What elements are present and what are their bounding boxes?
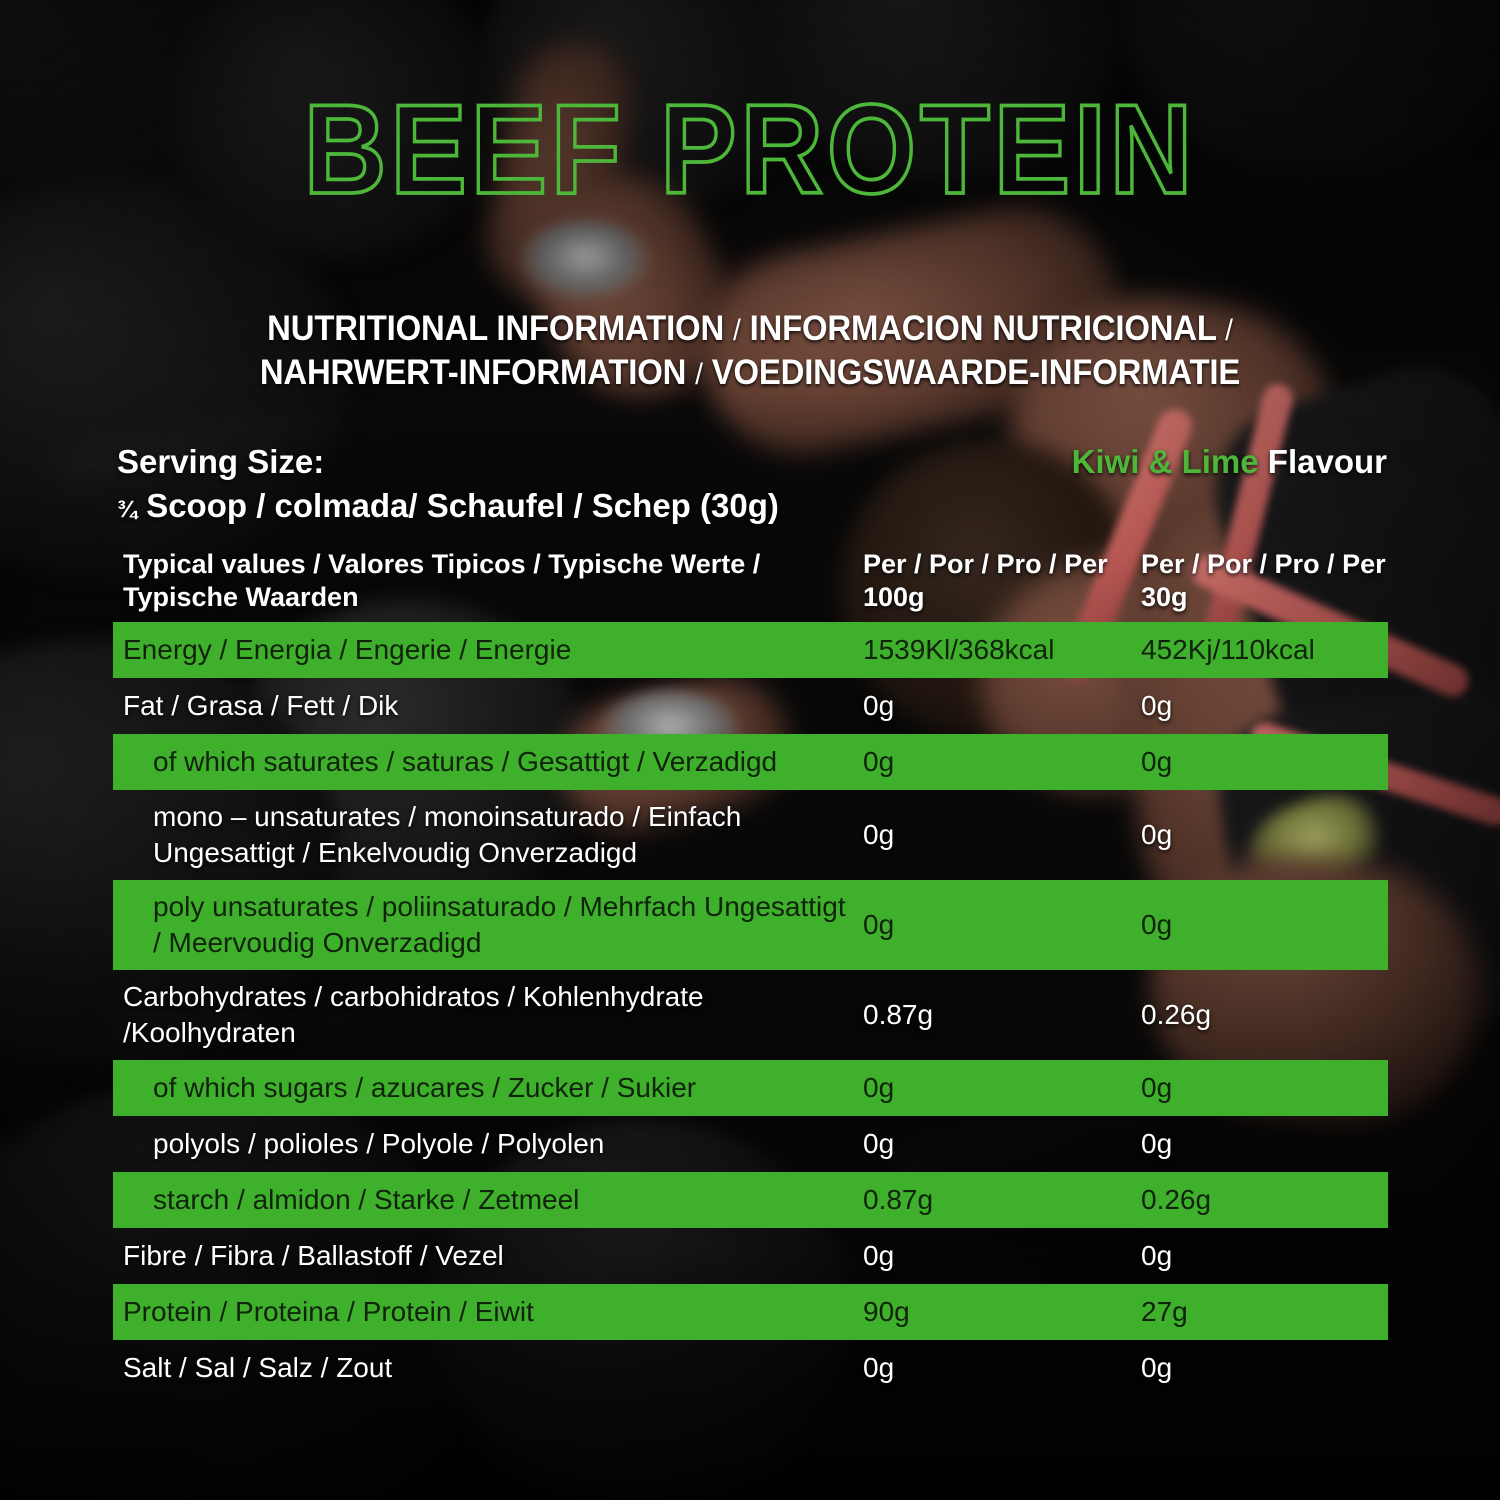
value-per-30g: 0g (1141, 907, 1388, 943)
value-per-100g: 90g (863, 1294, 1141, 1330)
nutrient-name: starch / almidon / Starke / Zetmeel (123, 1182, 863, 1218)
value-per-30g: 0g (1141, 744, 1388, 780)
flavour-name: Kiwi & Lime (1072, 443, 1259, 480)
value-per-100g: 0.87g (863, 997, 1141, 1033)
serving-size-label: Serving Size: (117, 440, 779, 484)
value-per-30g: 0g (1141, 688, 1388, 724)
value-per-100g: 0g (863, 1126, 1141, 1162)
column-header-per-100g: Per / Por / Pro / Per 100g (863, 548, 1141, 614)
value-per-30g: 0g (1141, 817, 1388, 853)
serving-size-value: Scoop / colmada/ Schaufel / Schep (30g) (146, 487, 779, 524)
table-row: Energy / Energia / Engerie / Energie1539… (113, 622, 1388, 678)
subtitle-de: NAHRWERT-INFORMATION (260, 353, 686, 392)
nutrient-name: of which saturates / saturas / Gesattigt… (123, 744, 863, 780)
value-per-30g: 0g (1141, 1070, 1388, 1106)
value-per-100g: 0g (863, 817, 1141, 853)
table-header-row: Typical values / Valores Tipicos / Typis… (113, 548, 1388, 622)
nutrition-table: Typical values / Valores Tipicos / Typis… (113, 548, 1388, 1396)
value-per-100g: 0g (863, 744, 1141, 780)
value-per-30g: 0.26g (1141, 997, 1388, 1033)
table-row: poly unsaturates / poliinsaturado / Mehr… (113, 880, 1388, 970)
column-header-line-2: 30g (1141, 581, 1388, 614)
column-header-line-2: Typische Waarden (123, 581, 853, 614)
nutrient-name: Energy / Energia / Engerie / Energie (123, 632, 863, 668)
subtitle-line-2: NAHRWERT-INFORMATION / VOEDINGSWAARDE-IN… (45, 352, 1455, 396)
nutrient-name: polyols / polioles / Polyole / Polyolen (123, 1126, 863, 1162)
subtitle-en: NUTRITIONAL INFORMATION (267, 309, 724, 348)
serving-size-fraction: ¾ (117, 496, 137, 523)
nutrient-name: Carbohydrates / carbohidratos / Kohlenhy… (123, 979, 863, 1051)
column-header-per-30g: Per / Por / Pro / Per 30g (1141, 548, 1388, 614)
flavour-suffix: Flavour (1268, 443, 1387, 480)
subtitle-separator: / (733, 314, 741, 347)
value-per-100g: 0g (863, 688, 1141, 724)
table-row: Salt / Sal / Salz / Zout0g0g (113, 1340, 1388, 1396)
value-per-100g: 0g (863, 907, 1141, 943)
table-row: Protein / Proteina / Protein / Eiwit90g2… (113, 1284, 1388, 1340)
value-per-30g: 0g (1141, 1126, 1388, 1162)
serving-size-block: Serving Size: ¾ Scoop / colmada/ Schaufe… (117, 440, 779, 532)
flavour-label: Kiwi & Lime Flavour (1072, 443, 1387, 481)
value-per-100g: 0g (863, 1070, 1141, 1106)
table-row: of which sugars / azucares / Zucker / Su… (113, 1060, 1388, 1116)
value-per-100g: 0.87g (863, 1182, 1141, 1218)
nutrient-name: poly unsaturates / poliinsaturado / Mehr… (123, 889, 863, 961)
column-header-line-2: 100g (863, 581, 1141, 614)
table-row: of which saturates / saturas / Gesattigt… (113, 734, 1388, 790)
subtitle-separator: / (1225, 314, 1233, 347)
value-per-30g: 0g (1141, 1238, 1388, 1274)
subtitle-line-1: NUTRITIONAL INFORMATION / INFORMACION NU… (45, 308, 1455, 352)
nutritional-information-subtitle: NUTRITIONAL INFORMATION / INFORMACION NU… (45, 308, 1455, 396)
nutrient-name: of which sugars / azucares / Zucker / Su… (123, 1070, 863, 1106)
serving-size-value-line: ¾ Scoop / colmada/ Schaufel / Schep (30g… (117, 484, 779, 532)
value-per-100g: 1539Kl/368kcal (863, 632, 1141, 668)
table-row: mono – unsaturates / monoinsaturado / Ei… (113, 790, 1388, 880)
nutrient-name: Fat / Grasa / Fett / Dik (123, 688, 863, 724)
subtitle-es: INFORMACION NUTRICIONAL (750, 309, 1217, 348)
value-per-30g: 452Kj/110kcal (1141, 632, 1388, 668)
table-row: Fat / Grasa / Fett / Dik0g0g (113, 678, 1388, 734)
column-header-typical-values: Typical values / Valores Tipicos / Typis… (123, 548, 863, 614)
nutrient-name: Protein / Proteina / Protein / Eiwit (123, 1294, 863, 1330)
value-per-30g: 0g (1141, 1350, 1388, 1386)
column-header-line-1: Typical values / Valores Tipicos / Typis… (123, 548, 853, 581)
column-header-line-1: Per / Por / Pro / Per (863, 548, 1141, 581)
nutrient-name: mono – unsaturates / monoinsaturado / Ei… (123, 799, 863, 871)
subtitle-separator: / (695, 358, 703, 391)
column-header-line-1: Per / Por / Pro / Per (1141, 548, 1388, 581)
table-row: starch / almidon / Starke / Zetmeel0.87g… (113, 1172, 1388, 1228)
table-row: Fibre / Fibra / Ballastoff / Vezel0g0g (113, 1228, 1388, 1284)
nutrient-name: Fibre / Fibra / Ballastoff / Vezel (123, 1238, 863, 1274)
nutrition-table-body: Energy / Energia / Engerie / Energie1539… (113, 622, 1388, 1396)
value-per-30g: 27g (1141, 1294, 1388, 1330)
nutrient-name: Salt / Sal / Salz / Zout (123, 1350, 863, 1386)
value-per-100g: 0g (863, 1350, 1141, 1386)
table-row: polyols / polioles / Polyole / Polyolen0… (113, 1116, 1388, 1172)
value-per-100g: 0g (863, 1238, 1141, 1274)
table-row: Carbohydrates / carbohidratos / Kohlenhy… (113, 970, 1388, 1060)
page-title: BEEF PROTEIN (23, 86, 1478, 213)
value-per-30g: 0.26g (1141, 1182, 1388, 1218)
subtitle-nl: VOEDINGSWAARDE-INFORMATIE (712, 353, 1240, 392)
